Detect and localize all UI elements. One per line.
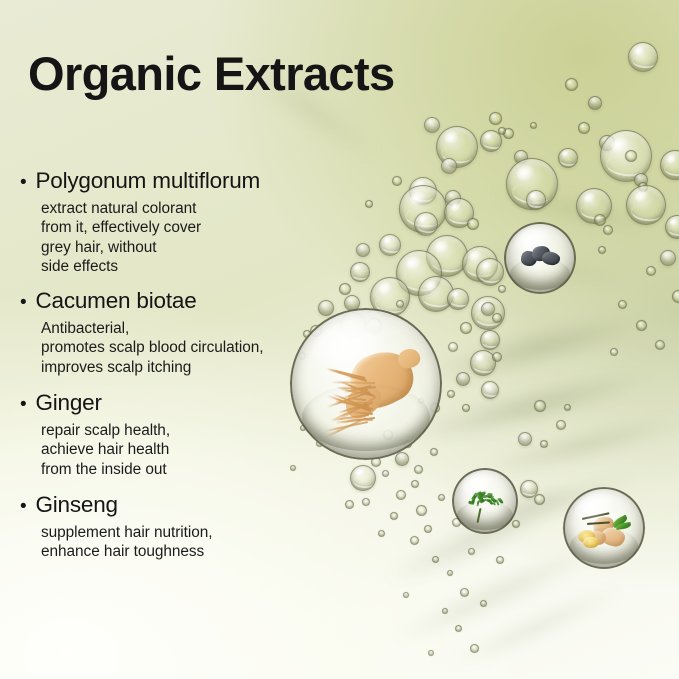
bubble-shell [672, 290, 679, 303]
description-line: extract natural colorant [41, 199, 350, 218]
decorative-bubble [540, 440, 548, 448]
bubble-shell [424, 525, 432, 533]
bubble-shell [512, 520, 520, 528]
bubble-shell [564, 404, 571, 411]
decorative-bubble [512, 520, 520, 528]
decorative-bubble [414, 212, 438, 236]
bullet-icon: • [20, 497, 26, 516]
decorative-bubble [382, 470, 389, 477]
decorative-bubble [498, 285, 506, 293]
bubble-shadow [570, 528, 639, 564]
ingredient-heading-label: Ginger [35, 390, 101, 416]
bubble-shell [396, 300, 404, 308]
bubble-shell [410, 536, 419, 545]
description-line: improves scalp itching [41, 358, 350, 377]
ingredient-heading: •Polygonum multiflorum [20, 168, 350, 194]
description-line: side effects [41, 257, 350, 276]
ingredient-description: repair scalp health,achieve hair healthf… [41, 421, 350, 479]
description-line: from it, effectively cover [41, 218, 350, 237]
bubble-shell [470, 644, 479, 653]
bubble-shell [462, 404, 470, 412]
bubble-shell [414, 465, 423, 474]
description-line: grey hair, without [41, 238, 350, 257]
bubble-shell [588, 96, 602, 110]
bubble-shell [456, 372, 470, 386]
decorative-bubble [480, 600, 487, 607]
decorative-bubble [424, 525, 432, 533]
bubble-shell [534, 494, 545, 505]
decorative-bubble [362, 498, 370, 506]
bubble-shadow [457, 501, 512, 530]
bubble-shell [625, 150, 637, 162]
bullet-icon: • [20, 173, 26, 192]
decorative-bubble [534, 494, 545, 505]
bubble-shell [594, 214, 606, 226]
decorative-bubble [395, 452, 409, 466]
decorative-bubble [480, 130, 502, 152]
decorative-bubble [456, 372, 470, 386]
bubble-shell [447, 390, 455, 398]
bubble-shell [416, 505, 427, 516]
decorative-bubble [603, 225, 613, 235]
bubble-shell [598, 246, 606, 254]
decorative-bubble [365, 200, 373, 208]
bubble-shell [395, 452, 409, 466]
ingredient-section: •Ginsengsupplement hair nutrition,enhanc… [20, 492, 350, 562]
bubble-shell [378, 530, 385, 537]
bubble-shell [411, 480, 419, 488]
bubble-shell [438, 494, 445, 501]
ingredient-description: supplement hair nutrition,enhance hair t… [41, 523, 350, 562]
description-line: Antibacterial, [41, 319, 350, 338]
bubble-shell [468, 548, 475, 555]
decorative-bubble [392, 176, 402, 186]
ingredient-heading: •Ginseng [20, 492, 350, 518]
bubble-shell [424, 117, 440, 133]
decorative-bubble [578, 122, 590, 134]
decorative-bubble [460, 588, 469, 597]
biota-sprig-bubble [452, 468, 518, 534]
ingredient-section: •Gingerrepair scalp health,achieve hair … [20, 390, 350, 479]
bubble-shell [534, 400, 546, 412]
decorative-bubble [432, 556, 439, 563]
decorative-bubble [625, 150, 637, 162]
decorative-bubble [594, 214, 606, 226]
decorative-bubble [403, 592, 409, 598]
bubble-shell [460, 322, 472, 334]
bubble-shell [618, 300, 627, 309]
decorative-bubble [447, 390, 455, 398]
decorative-bubble [526, 190, 546, 210]
description-line: achieve hair health [41, 440, 350, 459]
decorative-bubble [462, 404, 470, 412]
decorative-bubble [556, 420, 566, 430]
decorative-bubble [430, 448, 438, 456]
decorative-bubble [396, 490, 406, 500]
description-line: from the inside out [41, 460, 350, 479]
bubble-shell [578, 122, 590, 134]
decorative-bubble [468, 548, 475, 555]
description-line: promotes scalp blood circulation, [41, 338, 350, 357]
decorative-bubble [665, 215, 679, 239]
decorative-bubble [455, 625, 462, 632]
decorative-bubble [489, 112, 502, 125]
ingredient-heading-label: Ginseng [35, 492, 117, 518]
decorative-bubble [448, 342, 458, 352]
bubble-shell [362, 498, 370, 506]
bubble-shell [489, 112, 502, 125]
bubble-shell [430, 448, 438, 456]
decorative-bubble [379, 234, 401, 256]
bubble-shell [460, 588, 469, 597]
decorative-bubble [492, 313, 502, 323]
bubble-shell [496, 556, 504, 564]
bubble-shell [518, 432, 532, 446]
decorative-bubble [480, 330, 500, 350]
decorative-bubble [636, 320, 647, 331]
description-line: repair scalp health, [41, 421, 350, 440]
decorative-bubble [442, 608, 448, 614]
decorative-bubble [416, 505, 427, 516]
decorative-bubble [492, 352, 502, 362]
bubble-shell [492, 352, 502, 362]
decorative-bubble [410, 536, 419, 545]
decorative-bubble [441, 158, 457, 174]
bubble-shell [492, 313, 502, 323]
bubble-shell [498, 285, 506, 293]
decorative-bubble [447, 288, 469, 310]
ingredient-section: •Cacumen biotaeAntibacterial,promotes sc… [20, 288, 350, 377]
decorative-bubble [496, 556, 504, 564]
bubble-shadow [510, 258, 570, 290]
decorative-bubble [530, 122, 537, 129]
ingredient-heading: •Cacumen biotae [20, 288, 350, 314]
decorative-bubble [610, 348, 618, 356]
bubble-shell [382, 470, 389, 477]
ginger-root-bubble [563, 487, 645, 569]
decorative-bubble [424, 117, 440, 133]
bubble-shell [403, 592, 409, 598]
ingredient-heading-label: Polygonum multiflorum [35, 168, 260, 194]
decorative-bubble [655, 340, 665, 350]
decorative-bubble [518, 432, 532, 446]
decorative-bubble [660, 150, 679, 180]
decorative-bubble [534, 400, 546, 412]
decorative-bubble [428, 650, 434, 656]
description-line: enhance hair toughness [41, 542, 350, 561]
bubble-shell [660, 250, 676, 266]
decorative-bubble [618, 300, 627, 309]
bubble-shell [448, 342, 458, 352]
decorative-bubble [565, 78, 578, 91]
bubble-shell [447, 570, 453, 576]
bubble-shell [365, 200, 373, 208]
bubble-shell [442, 608, 448, 614]
polygonum-root-bubble [504, 222, 576, 294]
decorative-bubble [476, 258, 504, 286]
bubble-shell [396, 490, 406, 500]
decorative-bubble [558, 148, 578, 168]
decorative-bubble [390, 512, 398, 520]
bubble-shell [636, 320, 647, 331]
decorative-bubble [672, 290, 679, 303]
page-title: Organic Extracts [28, 50, 395, 97]
decorative-bubble [414, 465, 423, 474]
infographic-canvas: Organic Extracts •Polygonum multiflorume… [0, 0, 679, 679]
bubble-shell [432, 556, 439, 563]
decorative-bubble [438, 494, 445, 501]
bubble-shell [603, 225, 613, 235]
ingredient-description: extract natural colorantfrom it, effecti… [41, 199, 350, 277]
decorative-bubble [481, 381, 499, 399]
bubble-shell [530, 122, 537, 129]
decorative-bubble [411, 480, 419, 488]
decorative-bubble [598, 246, 606, 254]
decorative-bubble [626, 185, 666, 225]
decorative-bubble [564, 404, 571, 411]
bullet-icon: • [20, 293, 26, 312]
decorative-bubble [467, 218, 479, 230]
ingredient-heading: •Ginger [20, 390, 350, 416]
decorative-bubble [378, 530, 385, 537]
decorative-bubble [646, 266, 656, 276]
bubble-shell [390, 512, 398, 520]
ingredient-section: •Polygonum multiflorumextract natural co… [20, 168, 350, 277]
bubble-shell [480, 600, 487, 607]
bubble-shell [428, 650, 434, 656]
text-column: Organic Extracts •Polygonum multiflorume… [0, 0, 360, 679]
bubble-shell [646, 266, 656, 276]
decorative-bubble [460, 322, 472, 334]
decorative-bubble [660, 250, 676, 266]
bubble-shell [540, 440, 548, 448]
decorative-bubble [588, 96, 602, 110]
decorative-bubble [470, 644, 479, 653]
bubble-shell [565, 78, 578, 91]
decorative-bubble [628, 42, 658, 72]
bubble-shell [556, 420, 566, 430]
ingredient-description: Antibacterial,promotes scalp blood circu… [41, 319, 350, 377]
decorative-bubble [396, 300, 404, 308]
bubble-shell [467, 218, 479, 230]
bubble-shell [610, 348, 618, 356]
description-line: supplement hair nutrition, [41, 523, 350, 542]
ingredient-heading-label: Cacumen biotae [35, 288, 196, 314]
bubble-shell [392, 176, 402, 186]
bubble-shell [655, 340, 665, 350]
bullet-icon: • [20, 395, 26, 414]
bubble-shell [455, 625, 462, 632]
decorative-bubble [447, 570, 453, 576]
bubble-shell [441, 158, 457, 174]
